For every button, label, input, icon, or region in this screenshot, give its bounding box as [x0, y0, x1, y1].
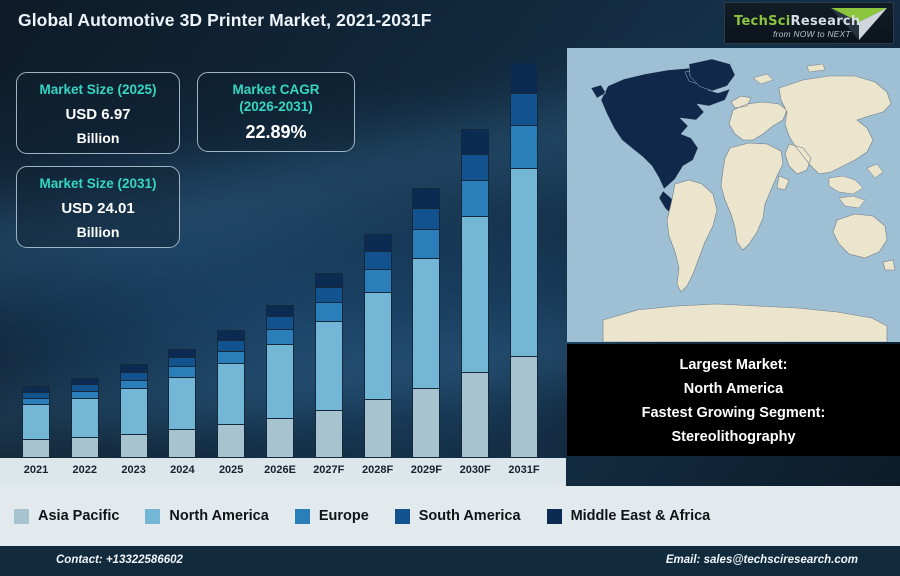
legend-label: South America: [419, 508, 521, 524]
bar-segment-asia-pacific[interactable]: [461, 372, 489, 458]
kpi-heading: Market Size (2025): [17, 82, 179, 97]
kpi-value: 22.89%: [198, 122, 354, 143]
bar-segment-south-america[interactable]: [120, 372, 148, 380]
bar-segment-south-america[interactable]: [71, 384, 99, 391]
chart-x-axis: 202120222023202420252026E2027F2028F2029F…: [0, 458, 566, 486]
legend-swatch-icon: [14, 509, 29, 524]
bar-segment-north-america[interactable]: [22, 404, 50, 439]
x-axis-tick-2021: 2021: [10, 464, 62, 476]
x-axis-tick-2030F: 2030F: [449, 464, 501, 476]
bar-segment-europe[interactable]: [168, 366, 196, 376]
bar-segment-europe[interactable]: [120, 380, 148, 389]
page-title: Global Automotive 3D Printer Market, 202…: [18, 10, 432, 31]
legend-item-south-america[interactable]: South America: [395, 508, 521, 524]
bar-segment-south-america[interactable]: [168, 357, 196, 366]
bar-segment-north-america[interactable]: [266, 344, 294, 417]
bar-segment-asia-pacific[interactable]: [510, 356, 538, 458]
bar-segment-north-america[interactable]: [71, 398, 99, 437]
bar-segment-south-america[interactable]: [510, 93, 538, 125]
bar-segment-north-america[interactable]: [120, 388, 148, 433]
x-axis-tick-2029F: 2029F: [400, 464, 452, 476]
legend-swatch-icon: [547, 509, 562, 524]
footer-bar: Contact: +13322586602 Email: sales@techs…: [0, 546, 900, 576]
chart-legend: Asia PacificNorth AmericaEuropeSouth Ame…: [0, 486, 900, 546]
legend-label: North America: [169, 508, 268, 524]
legend-swatch-icon: [145, 509, 160, 524]
bar-segment-middle-east-africa[interactable]: [510, 62, 538, 93]
bar-segment-europe[interactable]: [412, 229, 440, 257]
bar-segment-middle-east-africa[interactable]: [315, 273, 343, 287]
world-map-svg: [567, 48, 900, 342]
callout-largest-market-value: North America: [567, 377, 900, 401]
techsci-logo[interactable]: TechSciResearch from NOW to NEXT: [724, 2, 894, 44]
bar-segment-europe[interactable]: [71, 391, 99, 398]
infographic-canvas: Global Automotive 3D Printer Market, 202…: [0, 0, 900, 576]
bar-segment-south-america[interactable]: [412, 208, 440, 230]
kpi-value: USD 6.97: [17, 106, 179, 123]
bar-segment-middle-east-africa[interactable]: [412, 188, 440, 208]
bar-segment-europe[interactable]: [266, 329, 294, 345]
legend-item-north-america[interactable]: North America: [145, 508, 268, 524]
logo-tagline: from NOW to NEXT: [773, 29, 851, 39]
key-findings-callout: Largest Market: North America Fastest Gr…: [567, 344, 900, 456]
bar-segment-asia-pacific[interactable]: [22, 439, 50, 458]
bar-2029F[interactable]: [412, 188, 440, 458]
bar-2027F[interactable]: [315, 273, 343, 458]
kpi-market-size-2025: Market Size (2025) USD 6.97 Billion: [16, 72, 180, 154]
bar-2028F[interactable]: [364, 234, 392, 458]
kpi-unit: Billion: [17, 224, 179, 240]
footer-email[interactable]: Email: sales@techsciresearch.com: [666, 554, 858, 566]
bar-2025[interactable]: [217, 330, 245, 458]
bar-segment-middle-east-africa[interactable]: [217, 330, 245, 340]
bar-segment-asia-pacific[interactable]: [364, 399, 392, 458]
kpi-heading-period: (2026-2031): [198, 98, 354, 115]
bar-segment-north-america[interactable]: [364, 292, 392, 399]
bar-segment-north-america[interactable]: [461, 216, 489, 373]
x-axis-tick-2028F: 2028F: [352, 464, 404, 476]
legend-swatch-icon: [395, 509, 410, 524]
bar-segment-middle-east-africa[interactable]: [266, 305, 294, 317]
kpi-value: USD 24.01: [17, 200, 179, 217]
bar-segment-north-america[interactable]: [168, 377, 196, 429]
bar-segment-north-america[interactable]: [510, 168, 538, 356]
callout-largest-market-label: Largest Market:: [567, 353, 900, 377]
bar-2030F[interactable]: [461, 129, 489, 458]
kpi-unit: Billion: [17, 130, 179, 146]
legend-item-europe[interactable]: Europe: [295, 508, 369, 524]
bar-2026E[interactable]: [266, 305, 294, 458]
world-map: [567, 48, 900, 342]
bar-segment-north-america[interactable]: [412, 258, 440, 388]
bar-segment-europe[interactable]: [461, 180, 489, 215]
legend-item-middle-east-africa[interactable]: Middle East & Africa: [547, 508, 711, 524]
bar-segment-south-america[interactable]: [364, 251, 392, 269]
kpi-heading: Market CAGR: [198, 81, 354, 98]
logo-name-techsci: TechSci: [734, 14, 791, 29]
x-axis-tick-2031F: 2031F: [498, 464, 550, 476]
bar-segment-north-america[interactable]: [217, 363, 245, 424]
bar-segment-europe[interactable]: [510, 125, 538, 168]
bar-2024[interactable]: [168, 349, 196, 458]
bar-segment-middle-east-africa[interactable]: [168, 349, 196, 358]
bar-2023[interactable]: [120, 364, 148, 458]
x-axis-tick-2024: 2024: [156, 464, 208, 476]
legend-item-asia-pacific[interactable]: Asia Pacific: [14, 508, 119, 524]
legend-label: Europe: [319, 508, 369, 524]
bar-segment-europe[interactable]: [315, 302, 343, 321]
bar-segment-middle-east-africa[interactable]: [461, 129, 489, 154]
bar-segment-asia-pacific[interactable]: [71, 437, 99, 458]
bar-segment-europe[interactable]: [364, 269, 392, 292]
bar-segment-south-america[interactable]: [315, 287, 343, 302]
bar-segment-north-america[interactable]: [315, 321, 343, 410]
x-axis-tick-2027F: 2027F: [303, 464, 355, 476]
legend-swatch-icon: [295, 509, 310, 524]
callout-fastest-segment-label: Fastest Growing Segment:: [567, 401, 900, 425]
kpi-market-cagr: Market CAGR (2026-2031) 22.89%: [197, 72, 355, 152]
legend-label: Middle East & Africa: [571, 508, 711, 524]
bar-2031F[interactable]: [510, 62, 538, 458]
bar-segment-europe[interactable]: [217, 351, 245, 364]
kpi-market-size-2031: Market Size (2031) USD 24.01 Billion: [16, 166, 180, 248]
header-bar: Global Automotive 3D Printer Market, 202…: [0, 0, 900, 46]
bar-segment-asia-pacific[interactable]: [315, 410, 343, 458]
x-axis-tick-2026E: 2026E: [254, 464, 306, 476]
bar-segment-asia-pacific[interactable]: [120, 434, 148, 458]
logo-name-research: Research: [791, 14, 861, 29]
x-axis-tick-2023: 2023: [108, 464, 160, 476]
bar-segment-asia-pacific[interactable]: [168, 429, 196, 458]
bar-2022[interactable]: [71, 378, 99, 458]
bar-segment-middle-east-africa[interactable]: [71, 378, 99, 385]
bar-segment-south-america[interactable]: [461, 154, 489, 181]
kpi-heading: Market Size (2031): [17, 176, 179, 191]
bar-segment-south-america[interactable]: [217, 340, 245, 350]
x-axis-tick-2022: 2022: [59, 464, 111, 476]
legend-label: Asia Pacific: [38, 508, 119, 524]
bar-segment-middle-east-africa[interactable]: [120, 364, 148, 371]
bar-2021[interactable]: [22, 386, 50, 458]
bar-segment-asia-pacific[interactable]: [266, 418, 294, 458]
x-axis-tick-2025: 2025: [205, 464, 257, 476]
footer-contact[interactable]: Contact: +13322586602: [56, 554, 183, 566]
bar-segment-middle-east-africa[interactable]: [364, 234, 392, 251]
logo-wordmark: TechSciResearch: [734, 14, 860, 29]
bar-segment-asia-pacific[interactable]: [412, 388, 440, 459]
bar-segment-asia-pacific[interactable]: [217, 424, 245, 458]
callout-fastest-segment-value: Stereolithography: [567, 425, 900, 449]
bar-segment-south-america[interactable]: [266, 316, 294, 329]
